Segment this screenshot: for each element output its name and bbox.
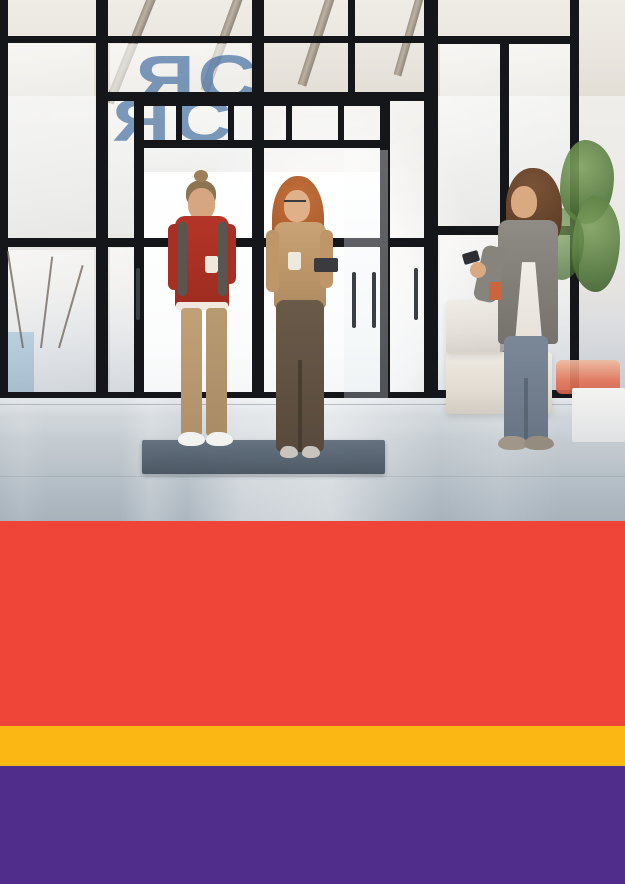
leg [206,308,227,436]
coffee-cup [489,282,502,300]
window-mullion [96,0,108,400]
window-mullion [0,0,8,400]
lounge-sofa [446,300,504,354]
shoe [206,432,233,446]
trouser-split [298,360,302,452]
door-pull-handle [372,272,376,328]
door-pull-handle [352,272,356,328]
shoe [178,432,205,446]
door-frame [228,100,234,144]
coffee-cup [205,256,218,273]
glasses [284,200,306,207]
head [511,186,537,218]
door-frame [176,100,182,144]
display-pedestal [572,388,625,442]
door-frame [338,100,344,144]
door-frame [134,140,390,148]
window-mullion [252,0,264,400]
glass-panel [440,44,500,224]
door-frame [286,100,292,144]
hand [470,262,486,278]
shoe [302,446,320,458]
floor-seam [0,476,625,477]
window-mullion [0,36,438,43]
window-mullion [424,36,579,44]
arm [266,230,279,292]
entrance-mat [142,440,385,474]
logo-band: Ibec For Irish Business [0,766,625,884]
backpack-strap [178,222,187,296]
cover-photo: ЯC ЯC [0,0,625,521]
leg [181,308,202,436]
glass-panel [4,40,94,240]
report-cover-page: ЯC ЯC [0,0,625,884]
window-mullion [348,0,355,92]
door-pull-handle [414,268,418,320]
backpack-strap [218,222,227,296]
date-band: October 2021 [0,726,625,766]
title-band: HR Update 2021 Workplace trends & insigh… [0,521,625,726]
shoe [524,436,554,450]
notebook [314,258,338,272]
coffee-cup [288,252,301,270]
shoe [280,446,298,458]
door-frame [134,96,390,106]
jeans-split [524,378,528,442]
window-mullion [424,0,438,400]
door-pull-handle [136,268,140,320]
hair-bun [194,170,208,182]
